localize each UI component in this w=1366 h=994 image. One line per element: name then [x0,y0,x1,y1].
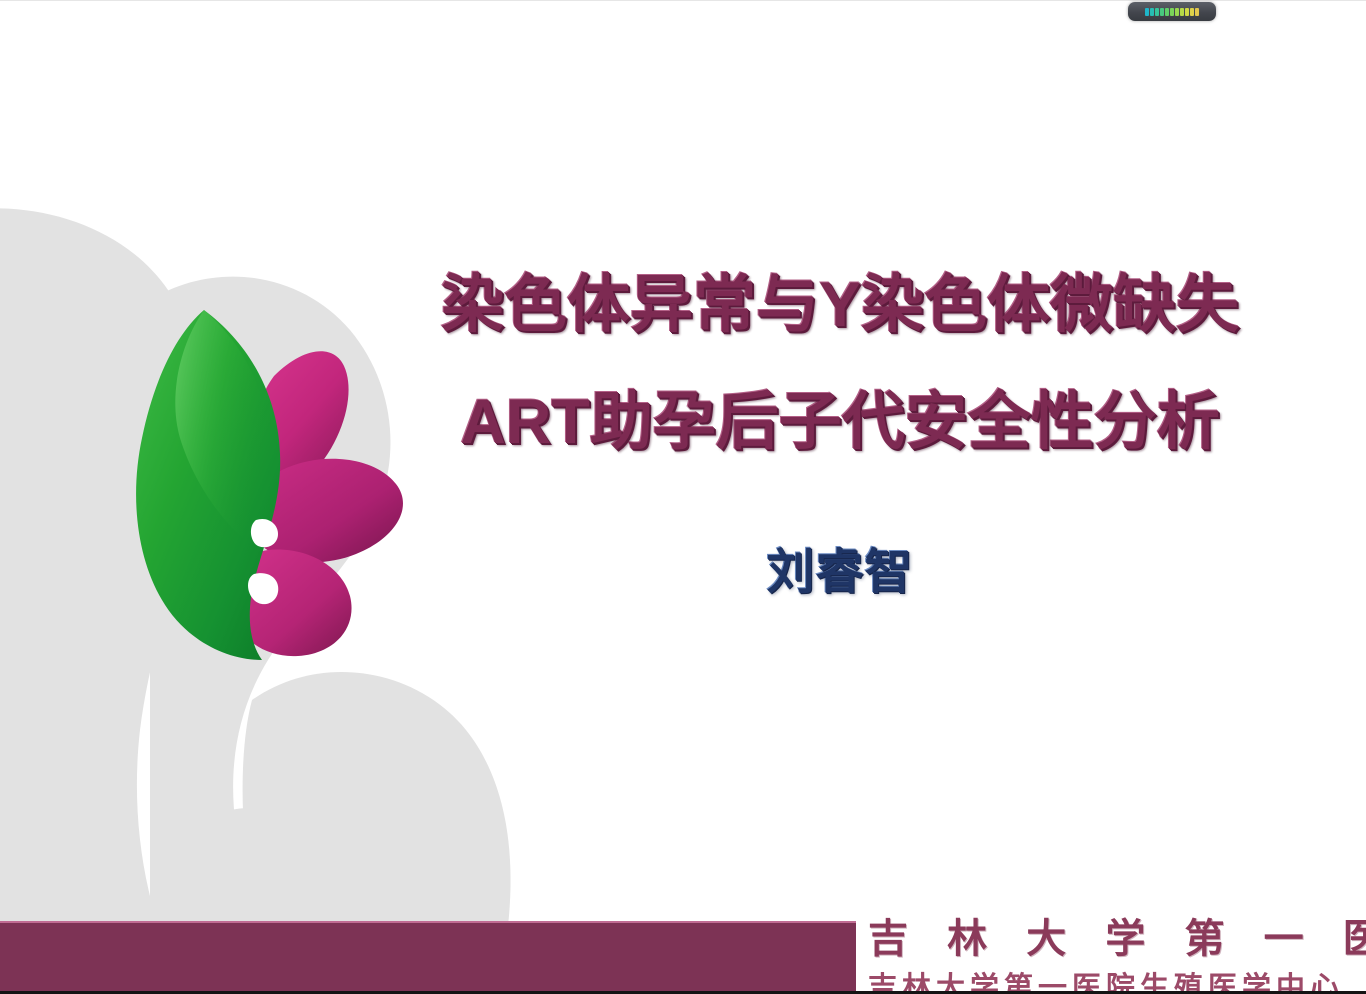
level-meter-segment [1190,8,1194,16]
level-meter-segment [1185,8,1189,16]
hospital-name-primary: 吉 林 大 学 第 一 医 院 [868,917,1366,961]
presenter-name: 刘睿智 [390,549,1290,597]
level-meter-segment [1195,8,1199,16]
footer-text-group: 吉 林 大 学 第 一 医 院 吉林大学第一医院生殖医学中心 [868,917,1366,994]
level-meter-segment [1165,8,1169,16]
top-hairline-divider [0,0,1366,1]
level-meter-segment [1145,8,1149,16]
presentation-slide: 染色体异常与Y染色体微缺失 ART助孕后子代安全性分析 刘睿智 吉 林 大 学 … [0,0,1366,994]
footer-color-bar [0,923,856,994]
level-meter-segment [1175,8,1179,16]
level-meter-segments [1143,8,1201,16]
level-meter-segment [1160,8,1164,16]
level-meter-segment [1155,8,1159,16]
slide-title-line-1: 染色体异常与Y染色体微缺失 [390,274,1290,337]
level-meter-segment [1150,8,1154,16]
slide-title-line-2: ART助孕后子代安全性分析 [390,391,1290,454]
footer-bar-highlight [0,921,856,923]
audio-level-meter-widget[interactable] [1128,2,1216,21]
title-block: 染色体异常与Y染色体微缺失 ART助孕后子代安全性分析 刘睿智 [390,274,1290,597]
level-meter-segment [1170,8,1174,16]
level-meter-segment [1180,8,1184,16]
